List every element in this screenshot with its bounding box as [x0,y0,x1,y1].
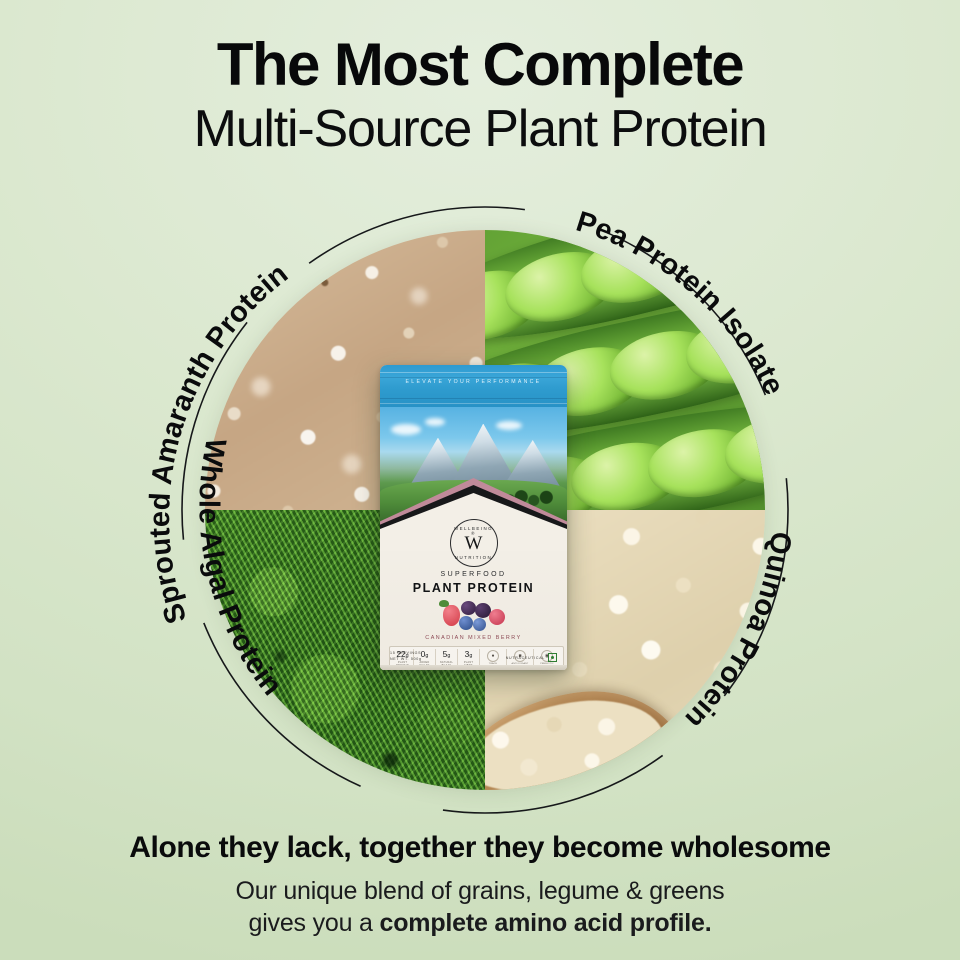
net-weight: NET WT. 500g [390,657,422,662]
pouch-footer: 15 SERVINGS NET WT. 500g NUTRACEUTICAL [390,651,557,662]
footer-subline-2: gives you a complete amino acid profile. [0,907,960,939]
headline-line-1: The Most Complete [0,34,960,96]
brand-name-top: WELLBEING ® [451,526,497,536]
footer-headline: Alone they lack, together they become wh… [0,830,960,866]
poster-canvas: The Most Complete Multi-Source Plant Pro… [0,0,960,960]
pouch-label-face: WELLBEING ® W NUTRITION SUPERFOOD PLANT … [380,525,567,670]
brand-logo-badge: WELLBEING ® W NUTRITION [450,519,498,567]
servings-count: 15 SERVINGS [390,651,422,656]
vegetarian-mark-icon [548,653,557,662]
category-label: NUTRACEUTICAL [506,656,545,660]
pouch-zip-strip: ELEVATE YOUR PERFORMANCE [380,365,567,407]
pouch-bottom-seal [380,665,567,670]
headline-line-2: Multi-Source Plant Protein [0,100,960,158]
product-eyebrow: SUPERFOOD [380,571,567,578]
berry-illustration [437,599,511,633]
footer-block: Alone they lack, together they become wh… [0,830,960,939]
product-flavor: CANADIAN MIXED BERRY [380,635,567,641]
footer-subline-2-emphasis: complete amino acid profile. [380,909,712,937]
pouch-quantity-block: 15 SERVINGS NET WT. 500g [390,651,422,662]
pouch-tagline: ELEVATE YOUR PERFORMANCE [380,379,567,385]
headline-block: The Most Complete Multi-Source Plant Pro… [0,34,960,159]
footer-subline-1: Our unique blend of grains, legume & gre… [0,875,960,907]
brand-name-bottom: NUTRITION [451,555,497,560]
footer-subline-2-prefix: gives you a [249,909,380,937]
brand-monogram: W [465,534,483,553]
product-pouch[interactable]: ELEVATE YOUR PERFORMANCE WELLBEING ® W N… [380,365,567,670]
product-name: PLANT PROTEIN [380,581,567,595]
pouch-category-block: NUTRACEUTICAL [506,653,557,662]
